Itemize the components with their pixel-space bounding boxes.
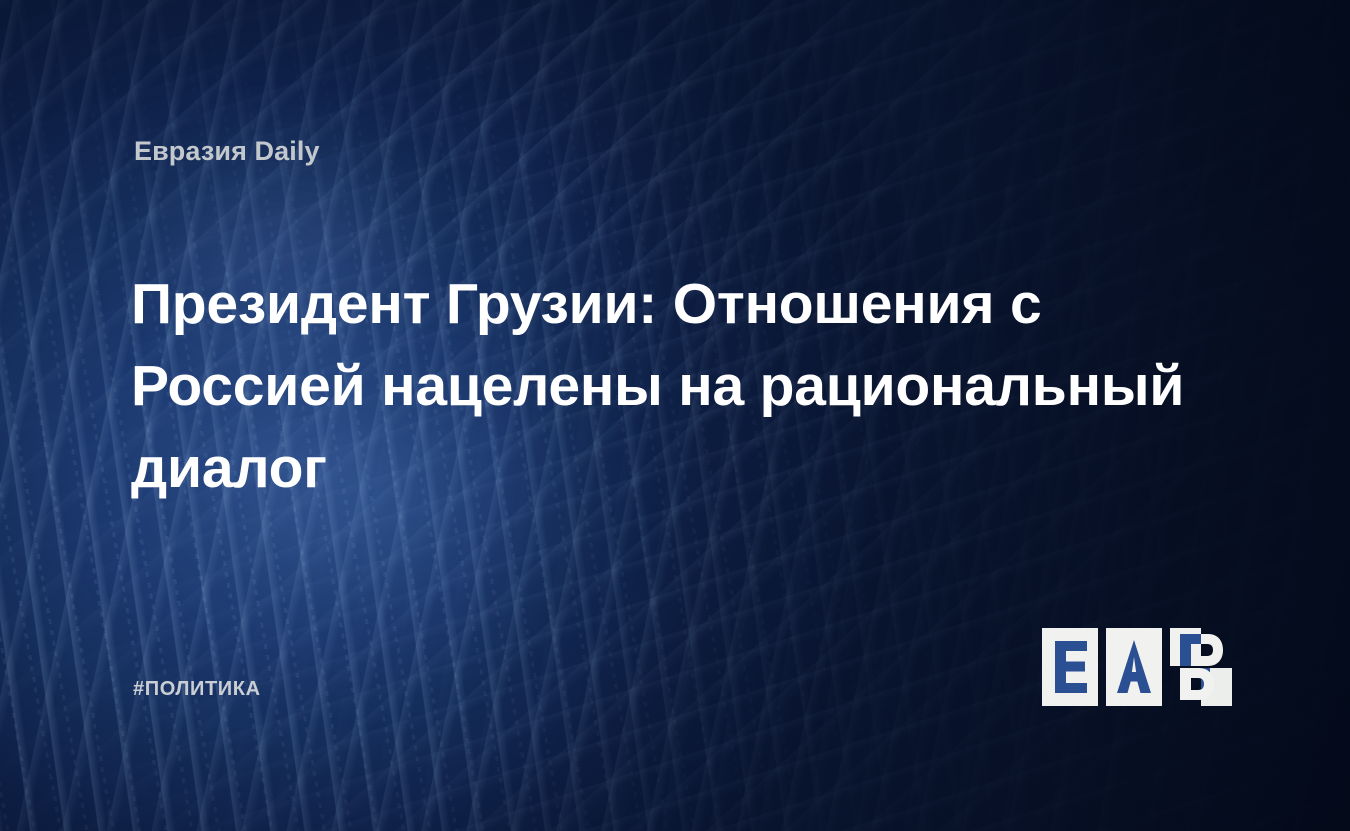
letter-e-icon bbox=[1042, 628, 1098, 706]
site-logo-text: Евразия Daily bbox=[134, 136, 320, 167]
category-hashtag: #ПОЛИТИКА bbox=[133, 678, 261, 701]
brand-letter-e-tile bbox=[1042, 628, 1098, 706]
page-title: Президент Грузии: Отношения с Россией на… bbox=[131, 263, 1191, 509]
ead-brand-mark bbox=[1042, 628, 1232, 706]
card-content: Евразия Daily Президент Грузии: Отношени… bbox=[0, 0, 1350, 831]
news-card: Евразия Daily Президент Грузии: Отношени… bbox=[0, 0, 1350, 831]
brand-letter-d-tile bbox=[1170, 628, 1232, 706]
letter-d-icon bbox=[1170, 628, 1232, 706]
brand-letter-a-tile bbox=[1106, 628, 1162, 706]
letter-a-icon bbox=[1106, 628, 1162, 706]
